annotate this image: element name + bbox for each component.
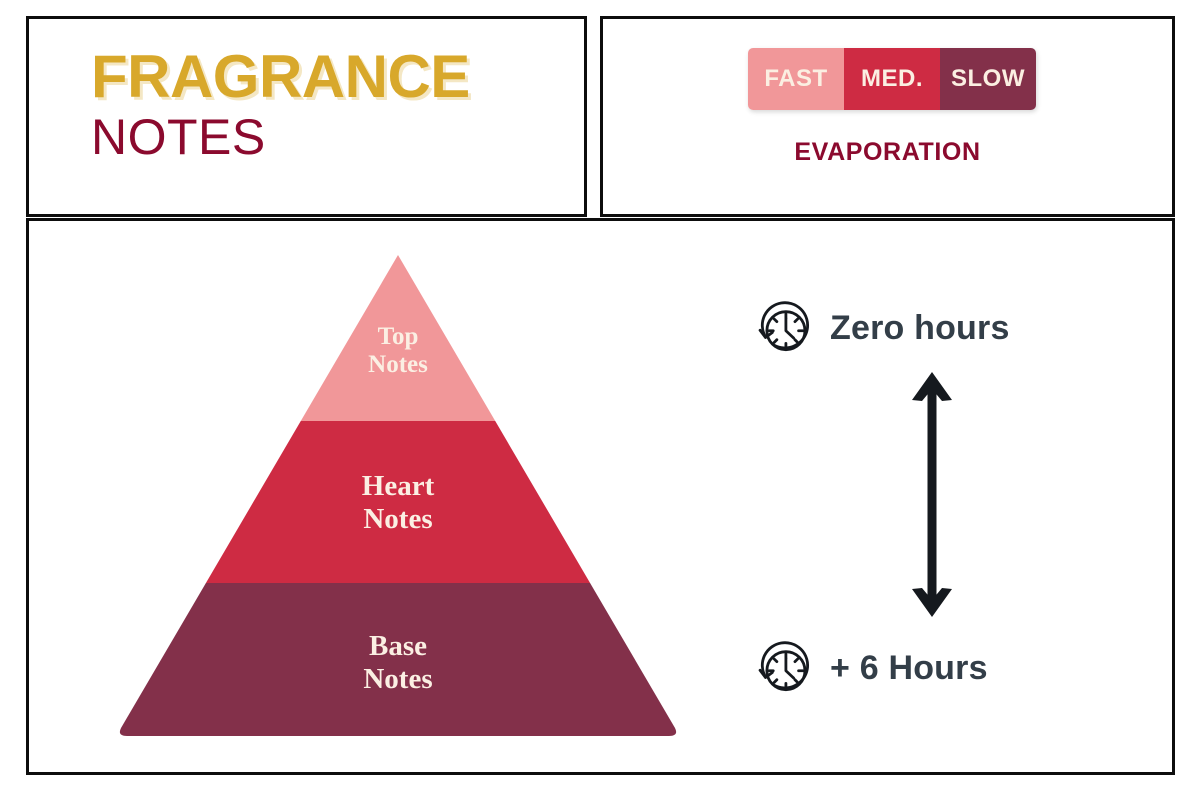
legend-segment-slow-label: SLOW — [951, 65, 1025, 93]
evaporation-scale-bar: FAST MED. SLOW — [748, 48, 1036, 110]
pyramid-shape — [113, 255, 683, 743]
legend-segment-medium[interactable]: MED. — [844, 48, 940, 110]
pyramid-layer-heart-notes[interactable] — [113, 421, 683, 583]
fragrance-pyramid: Top Notes Heart Notes Base Notes — [113, 255, 683, 743]
legend-segment-fast[interactable]: FAST — [748, 48, 844, 110]
timeline-end-label: + 6 Hours — [830, 649, 988, 688]
main-diagram-panel: Top Notes Heart Notes Base Notes — [26, 218, 1175, 775]
evaporation-legend-panel: FAST MED. SLOW EVAPORATION — [600, 16, 1175, 217]
double-arrow-vertical-icon — [902, 372, 962, 617]
timeline-start: Zero hours — [756, 299, 1010, 357]
pyramid-layer-top-notes[interactable] — [113, 255, 683, 421]
infographic-canvas: FRAGRANCE NOTES FAST MED. SLOW EVAPORATI… — [0, 0, 1200, 800]
legend-segment-fast-label: FAST — [764, 65, 827, 93]
timeline-end: + 6 Hours — [756, 639, 988, 697]
legend-segment-slow[interactable]: SLOW — [940, 48, 1036, 110]
legend-segment-medium-label: MED. — [861, 65, 923, 93]
page-subtitle: NOTES — [91, 109, 470, 165]
title-block: FRAGRANCE NOTES — [91, 45, 470, 165]
page-title: FRAGRANCE — [91, 45, 470, 109]
clock-icon — [756, 639, 814, 697]
evaporation-label: EVAPORATION — [603, 138, 1172, 167]
timeline-start-label: Zero hours — [830, 309, 1010, 348]
clock-icon — [756, 299, 814, 357]
pyramid-layer-base-notes[interactable] — [113, 583, 683, 743]
title-panel: FRAGRANCE NOTES — [26, 16, 587, 217]
